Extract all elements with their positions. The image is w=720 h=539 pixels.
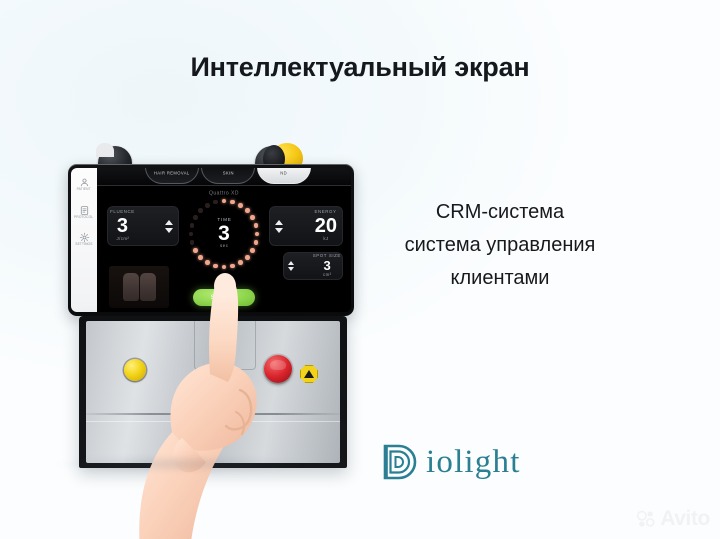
energy-readout: ENERGY 20 kJ bbox=[315, 211, 337, 241]
device-floor-shadow bbox=[56, 455, 306, 473]
brand-logo-word: iolight bbox=[426, 446, 521, 479]
laser-device-illustration: PATIENT PROTOCOL SET bbox=[66, 140, 356, 475]
roller-cap bbox=[96, 143, 114, 157]
dial-dot bbox=[205, 203, 210, 208]
dial-dot bbox=[250, 215, 255, 220]
fluence-label: FLUENCE bbox=[113, 211, 132, 214]
spot-size-readout: SPOT SIZE 3 cm² bbox=[316, 255, 338, 278]
dial-dot bbox=[193, 248, 198, 253]
screen-tab-bar: HAIR REMOVAL SKIN ND bbox=[97, 168, 351, 186]
page-title: Интеллектуальный экран bbox=[0, 52, 720, 83]
sidebar-item-settings[interactable]: SETTINGS bbox=[77, 232, 91, 247]
chevron-up-icon[interactable] bbox=[275, 220, 283, 225]
pointing-hand-illustration bbox=[90, 260, 300, 539]
tab-skin-label: SKIN bbox=[222, 170, 233, 175]
dial-dot bbox=[213, 200, 218, 205]
tab-nd[interactable]: ND bbox=[257, 168, 311, 184]
tab-hair-removal[interactable]: HAIR REMOVAL bbox=[145, 168, 199, 184]
avito-watermark: Avito bbox=[636, 508, 710, 529]
brand-logo: iolight bbox=[381, 442, 521, 482]
fingertip bbox=[214, 273, 236, 299]
avito-dots-icon bbox=[636, 509, 656, 529]
dial-dot bbox=[245, 208, 250, 213]
protocol-icon bbox=[79, 205, 90, 216]
energy-card[interactable]: ENERGY 20 kJ bbox=[269, 206, 343, 246]
sidebar-item-protocol-label: PROTOCOL bbox=[74, 216, 93, 219]
energy-unit: kJ bbox=[324, 238, 328, 241]
spot-size-unit: cm² bbox=[324, 274, 331, 277]
crm-description-line-3: клиентами bbox=[355, 262, 645, 295]
dial-dot bbox=[250, 248, 255, 253]
chevron-up-icon[interactable] bbox=[165, 220, 173, 225]
crm-description-line-2: система управления bbox=[355, 229, 645, 262]
warning-triangle-icon bbox=[304, 370, 314, 378]
fluence-unit: J/cm² bbox=[118, 238, 128, 241]
fluence-stepper[interactable] bbox=[165, 220, 173, 233]
sidebar-item-settings-label: SETTINGS bbox=[75, 244, 92, 247]
dial-dot bbox=[254, 223, 259, 228]
fluence-card[interactable]: FLUENCE 3 J/cm² bbox=[107, 206, 179, 246]
dial-dot bbox=[245, 255, 250, 260]
hand-palm bbox=[170, 363, 256, 451]
dial-dot bbox=[198, 208, 203, 213]
chevron-down-icon[interactable] bbox=[165, 228, 173, 233]
crm-description: CRM-система система управления клиентами bbox=[355, 196, 645, 295]
energy-label: ENERGY bbox=[317, 211, 334, 214]
tab-nd-label: ND bbox=[281, 170, 288, 175]
time-unit: sec bbox=[221, 245, 227, 248]
tab-skin[interactable]: SKIN bbox=[201, 168, 255, 184]
sidebar-item-protocol[interactable]: PROTOCOL bbox=[76, 205, 91, 220]
dial-dot bbox=[193, 215, 198, 220]
dial-dot bbox=[190, 223, 195, 228]
time-label: TIME bbox=[219, 219, 230, 223]
fluence-value: 3 bbox=[117, 216, 128, 236]
dial-dot bbox=[238, 203, 243, 208]
slide-root: Интеллектуальный экран CRM-система систе… bbox=[0, 0, 720, 539]
energy-stepper[interactable] bbox=[275, 220, 283, 233]
dial-dot bbox=[198, 255, 203, 260]
dial-dot bbox=[254, 240, 259, 245]
time-value: 3 bbox=[218, 223, 230, 245]
crm-description-line-1: CRM-система bbox=[355, 196, 645, 229]
sidebar-item-patient-label: PATIENT bbox=[77, 189, 91, 192]
tab-hair-removal-label: HAIR REMOVAL bbox=[154, 170, 190, 175]
fluence-readout: FLUENCE 3 J/cm² bbox=[113, 211, 132, 241]
diolight-d-mark-icon bbox=[381, 442, 417, 482]
spot-size-label: SPOT SIZE bbox=[316, 255, 338, 258]
sidebar-item-patient[interactable]: PATIENT bbox=[78, 177, 89, 192]
laser-warning-sticker-icon bbox=[300, 365, 318, 383]
avito-watermark-word: Avito bbox=[660, 508, 710, 529]
user-icon bbox=[79, 177, 90, 188]
spot-size-value: 3 bbox=[324, 259, 331, 272]
chevron-down-icon[interactable] bbox=[275, 228, 283, 233]
device-model-name: Quattro XD bbox=[97, 190, 351, 195]
energy-value: 20 bbox=[315, 216, 337, 236]
